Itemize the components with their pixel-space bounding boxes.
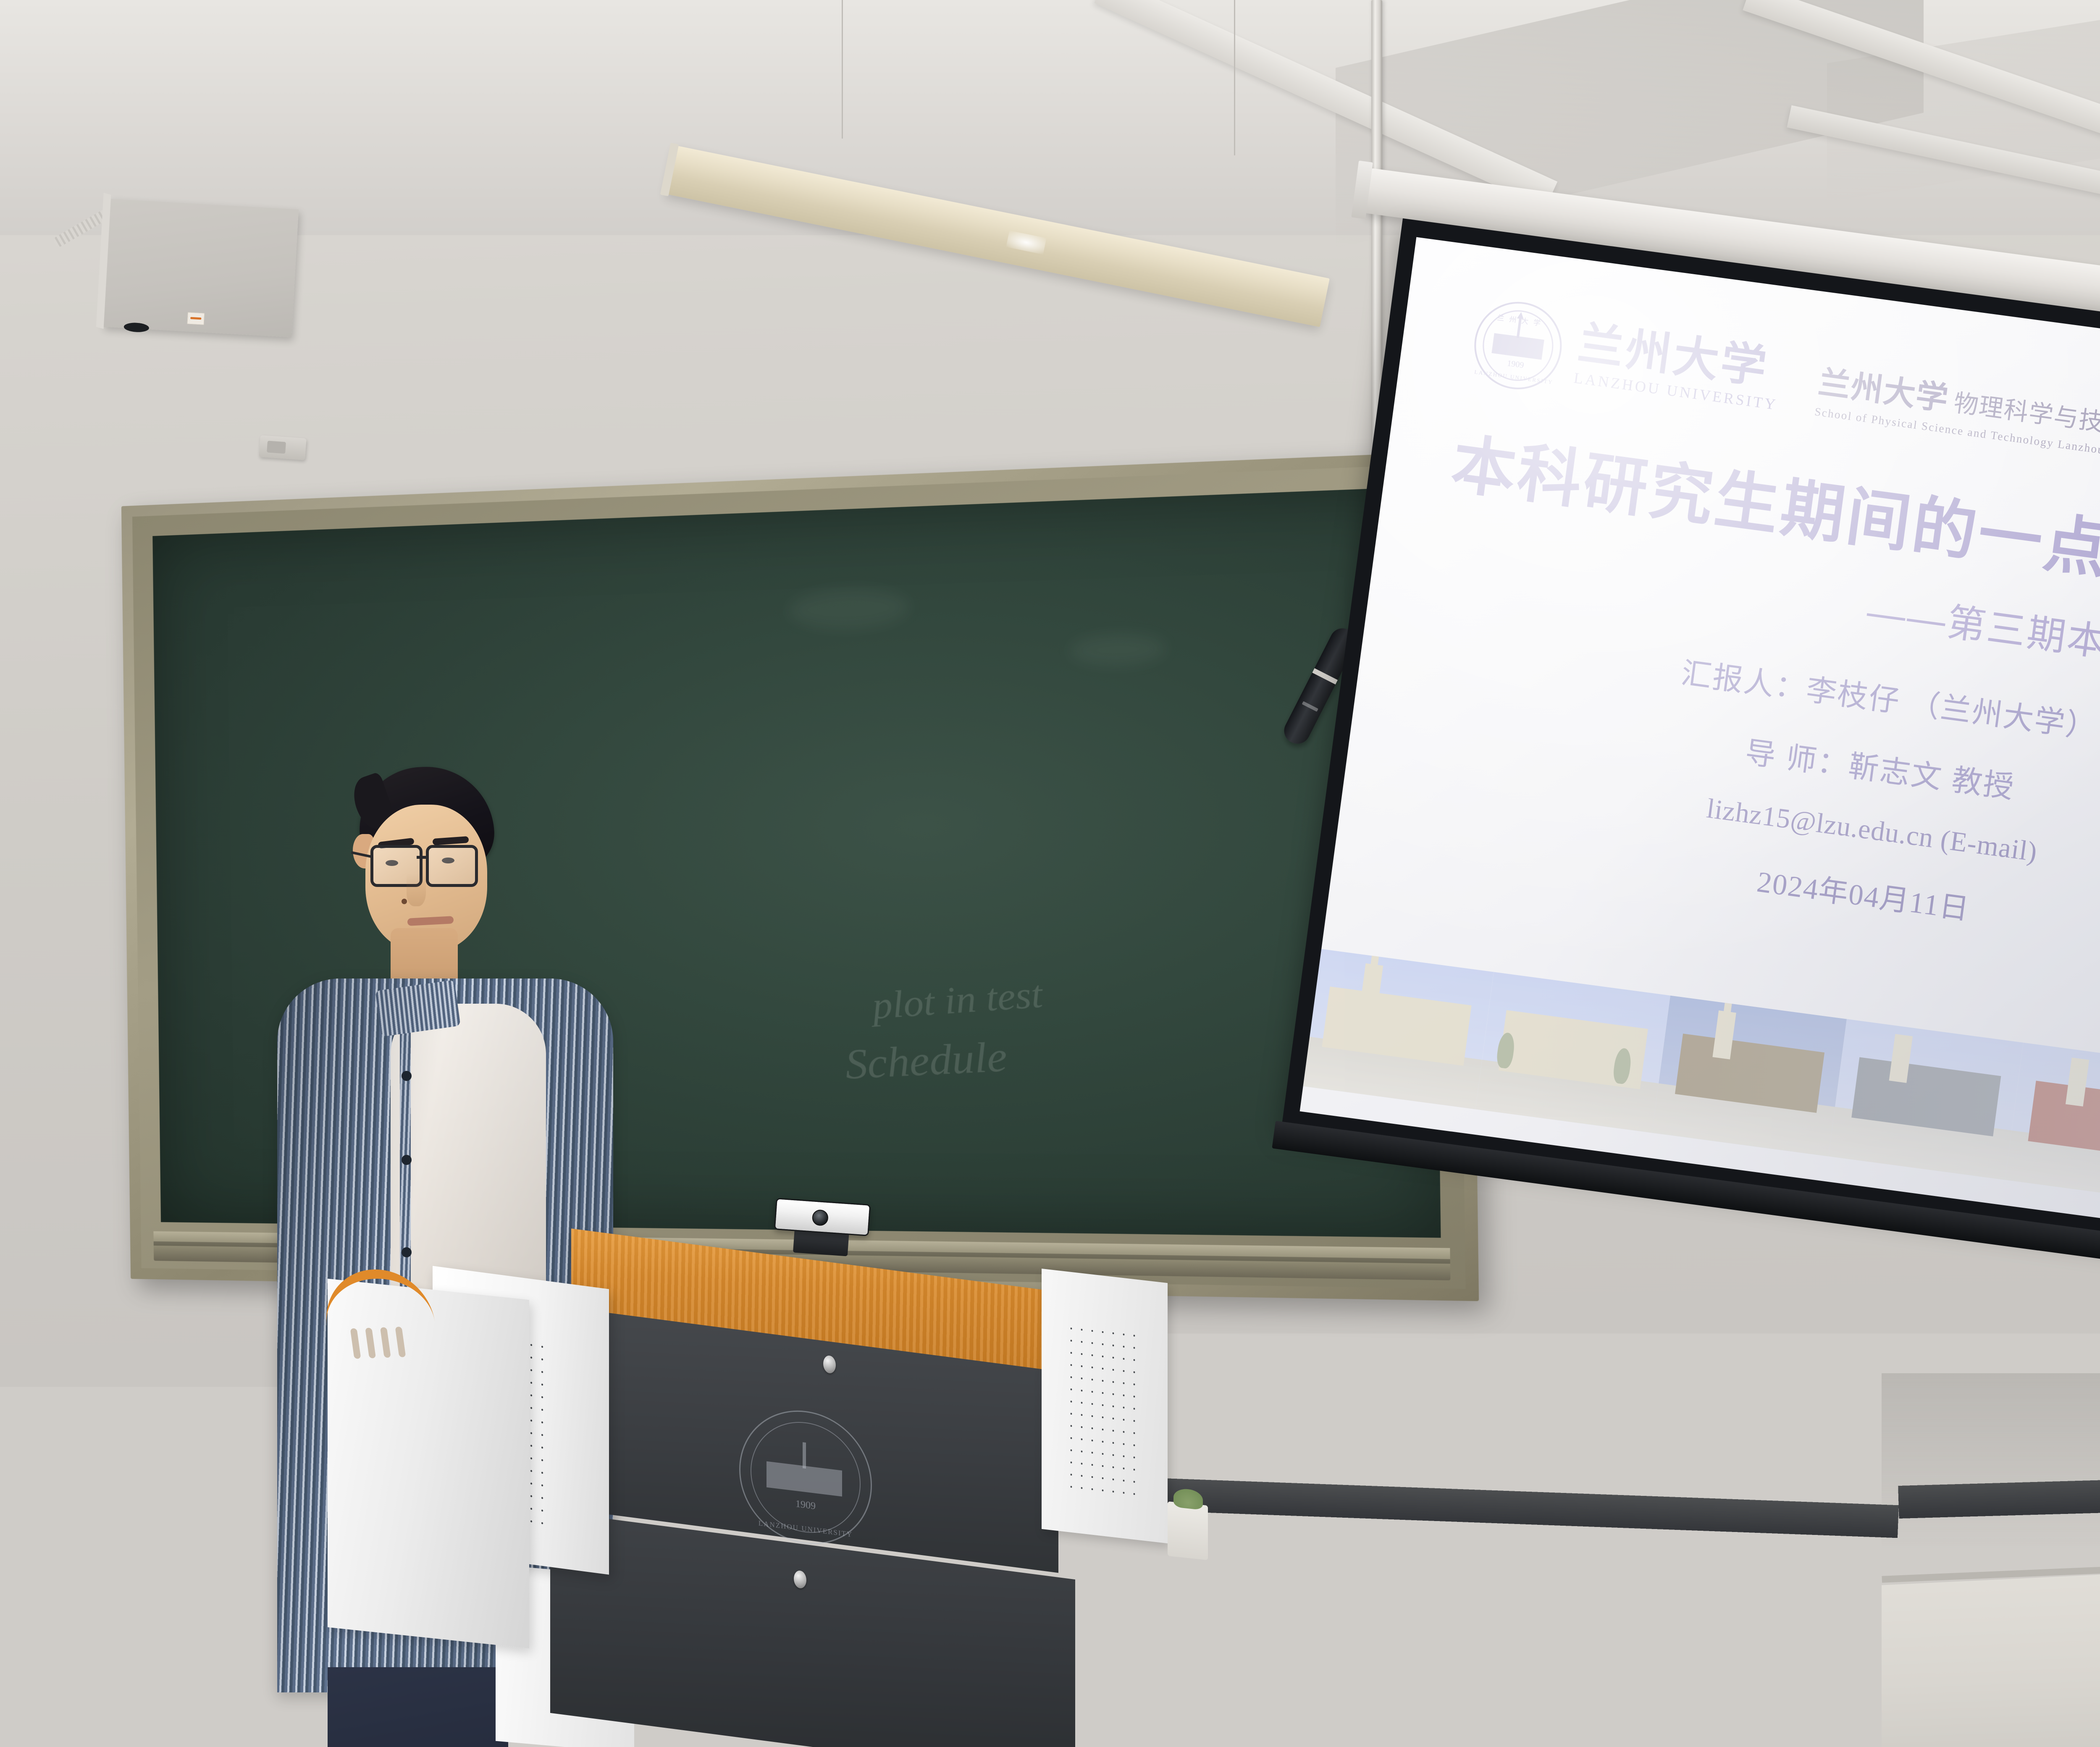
campus-photo [1652, 995, 1847, 1156]
microphone-brand-mark [1302, 701, 1318, 712]
slide-presenter-line: 汇报人：李枝仔 （兰州大学） [1679, 648, 2100, 747]
nose [407, 873, 426, 906]
slide-title: 本科研究生期间的一点心得分享 [1448, 428, 2100, 622]
light-glare [1006, 231, 1046, 254]
projection-screen-surface: 兰州大学 1909 LANZHOU UNIVERSITY 兰州大学 LANZHO… [1300, 237, 2100, 1251]
campus-photo [1300, 948, 1494, 1109]
podium-speaker-grille [1066, 1322, 1142, 1499]
chalk-smudge [788, 587, 909, 630]
eyeglasses [370, 845, 483, 884]
slide-advisor-line: 导 师：靳志文 教授 [1743, 727, 2018, 807]
university-logo: 兰州大学 1909 LANZHOU UNIVERSITY 兰州大学 LANZHO… [1469, 296, 1787, 424]
podium-seal-year: 1909 [740, 1492, 871, 1519]
projection-screen-border: 兰州大学 1909 LANZHOU UNIVERSITY 兰州大学 LANZHO… [1282, 218, 2100, 1270]
projection-screen-assembly: 兰州大学 1909 LANZHOU UNIVERSITY 兰州大学 LANZHO… [1270, 218, 2100, 1376]
power-outlet[interactable] [134, 1540, 201, 1607]
microphone-ring [1312, 668, 1338, 685]
seal-building-shape [1491, 333, 1544, 359]
school-logo: 兰州大学 物理科学与技术学院 School of Physical Scienc… [1814, 356, 2100, 466]
lectern-podium: 1909 LANZHOU UNIVERSITY [319, 1251, 1243, 1747]
podium-left-wing [328, 1279, 529, 1648]
chalk-text: plot in test [870, 971, 1044, 1028]
podium-webcam[interactable] [774, 1198, 871, 1236]
university-name-block: 兰州大学 LANZHOU UNIVERSITY [1573, 320, 1785, 413]
presentation-slide: 兰州大学 1909 LANZHOU UNIVERSITY 兰州大学 LANZHO… [1300, 237, 2100, 1251]
camera-lens-icon [812, 1209, 829, 1226]
corner-shadow [1882, 1373, 2100, 1550]
facial-mole [402, 899, 407, 904]
podium-right-face [1042, 1269, 1168, 1543]
power-outlet[interactable] [66, 1543, 133, 1609]
campus-photo [1475, 972, 1670, 1133]
campus-photo [1828, 1019, 2023, 1180]
slide-date-line: 2024年04月11日 [1755, 858, 1972, 928]
slide-meta-block: 汇报人：李枝仔 （兰州大学） 导 师：靳志文 教授 lizhz15@lzu.ed… [1336, 606, 2100, 984]
light-suspension-wire [842, 0, 843, 139]
box-brand-sticker [187, 312, 205, 325]
slide-email-line: lizhz15@lzu.edu.cn (E-mail) [1705, 793, 2039, 868]
desk-plant [1168, 1501, 1208, 1560]
chalk-smudge [1070, 632, 1166, 667]
chalk-text: Schedule [843, 1031, 1008, 1089]
classroom-photograph: plot in test Schedule 经科 JINGKE [0, 0, 2100, 1747]
light-suspension-wire [1234, 0, 1235, 155]
university-seal-icon: 兰州大学 1909 LANZHOU UNIVERSITY [1469, 296, 1567, 395]
podium-vent-slots [350, 1327, 406, 1359]
wall-mounted-equipment-box [103, 199, 299, 338]
wall-sensor [259, 435, 306, 460]
